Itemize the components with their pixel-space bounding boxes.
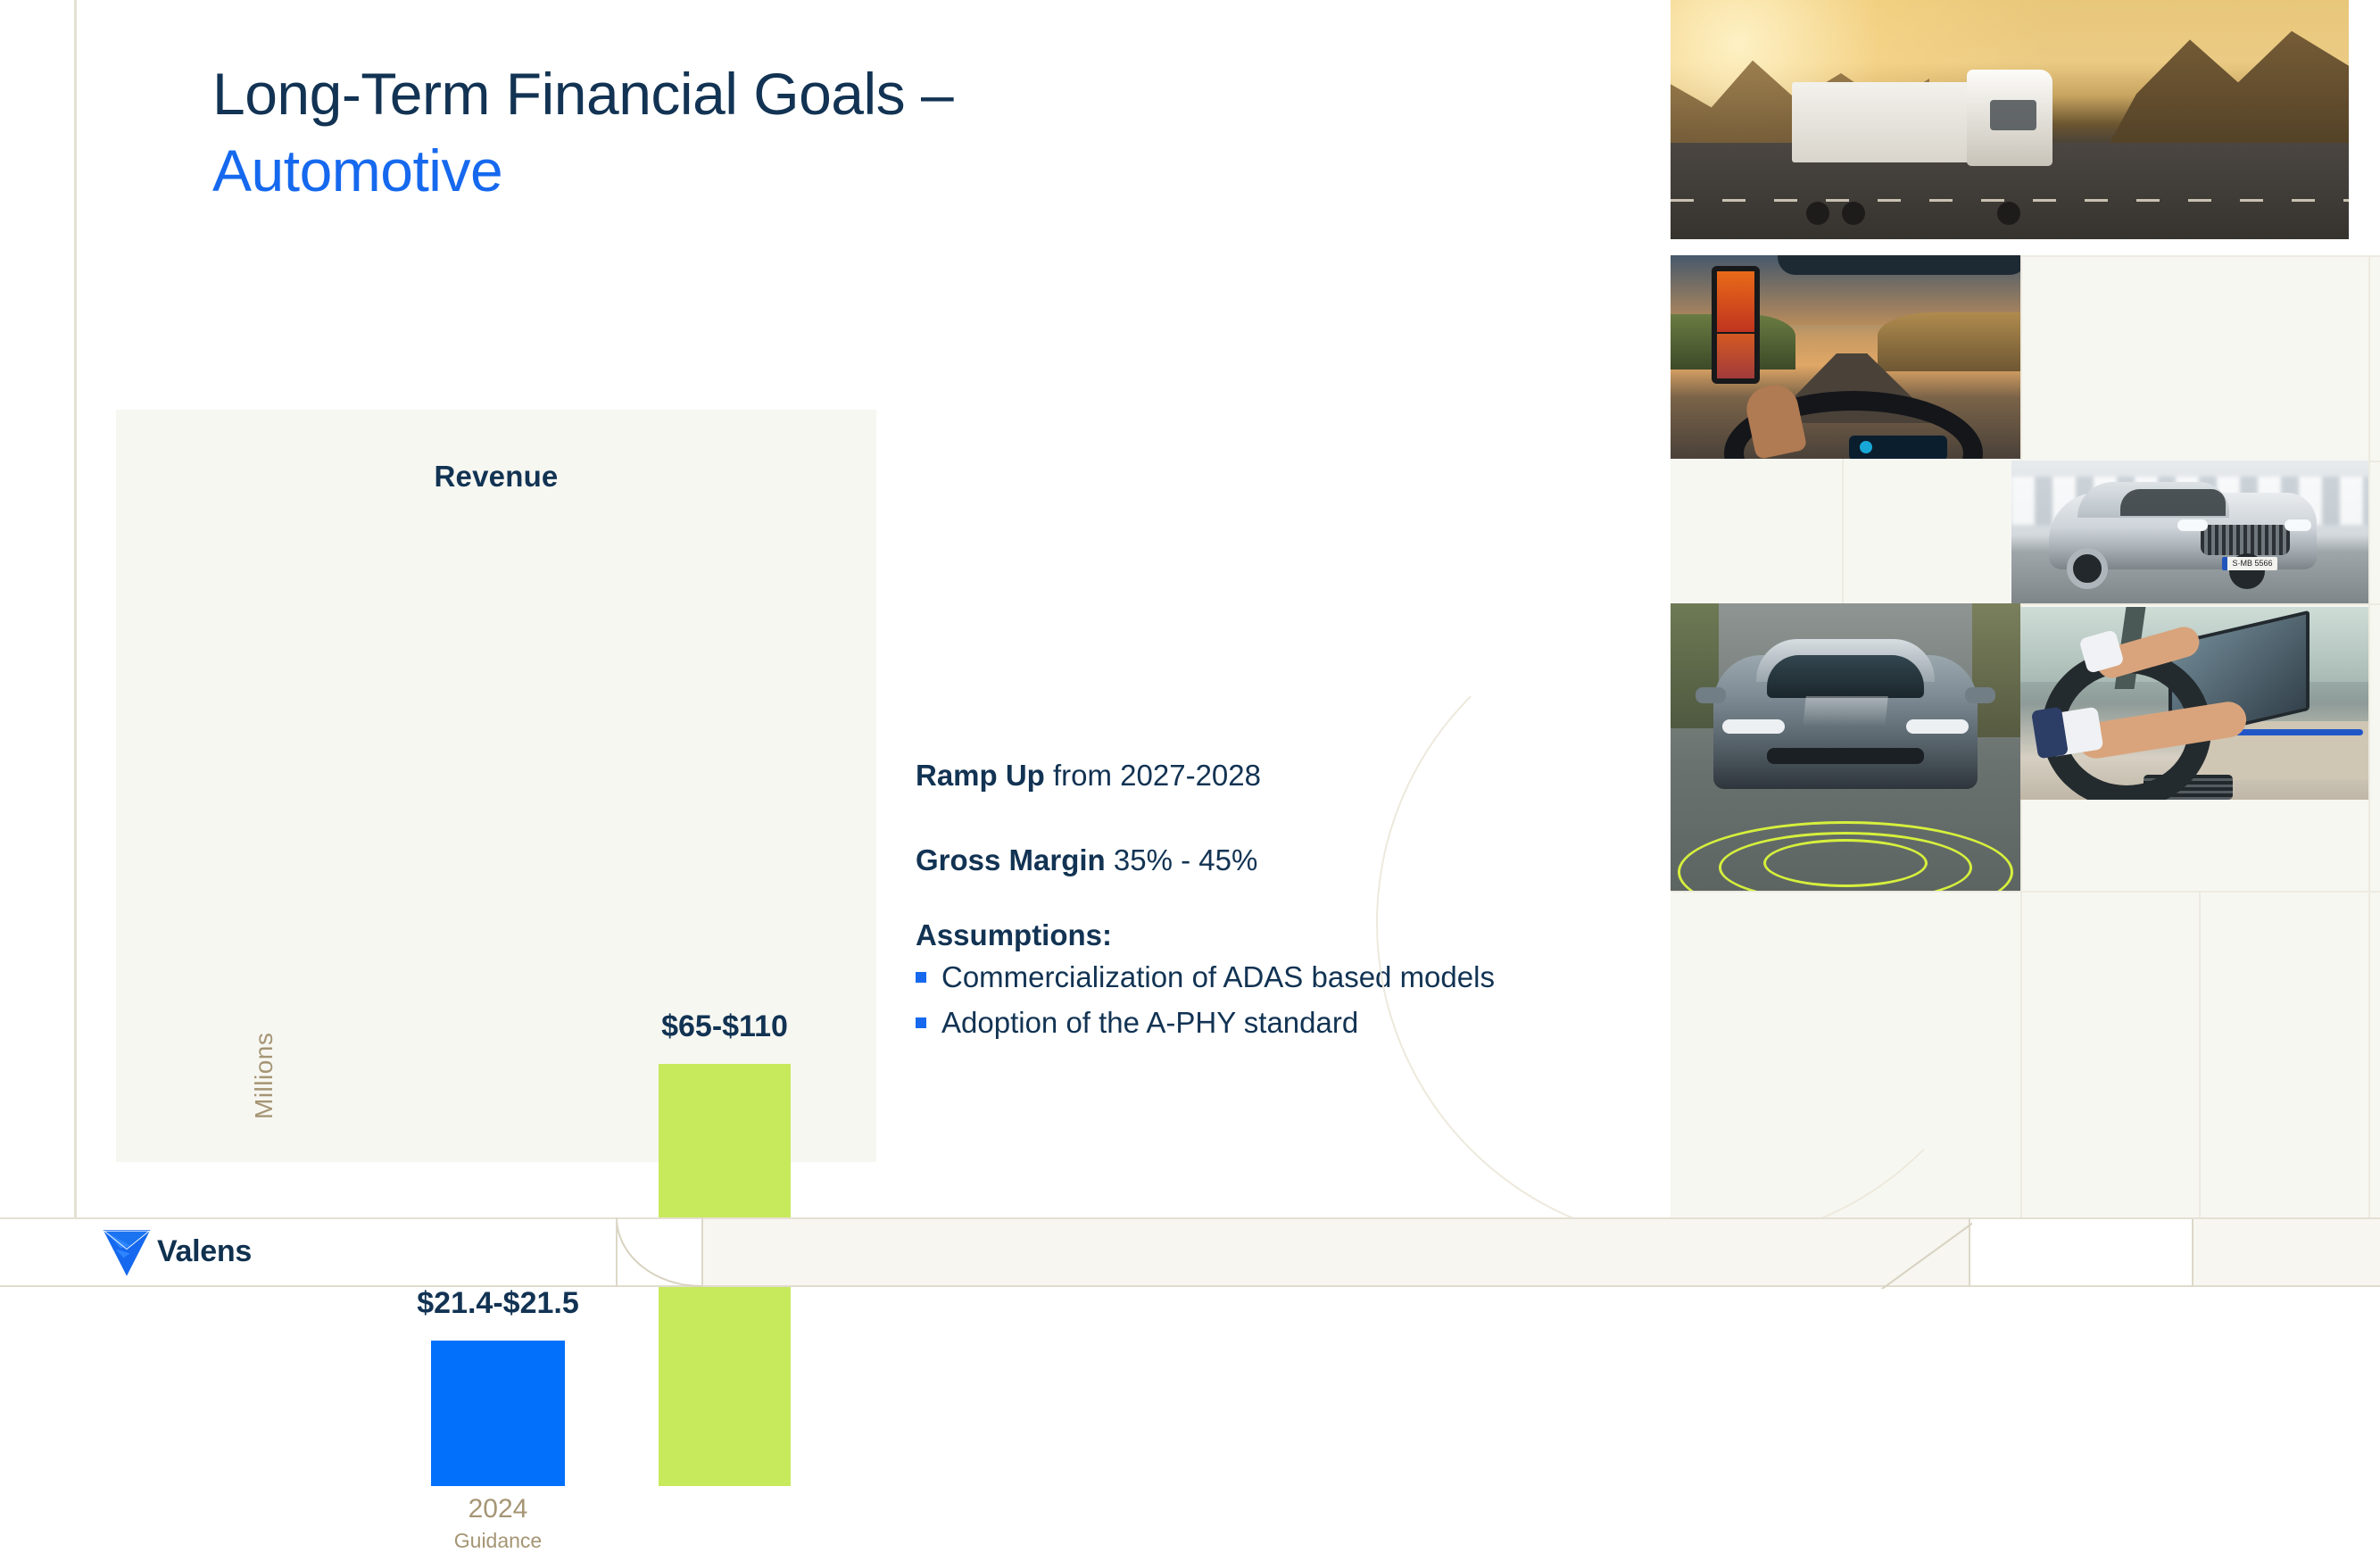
bullet-square-icon xyxy=(916,1017,926,1028)
footer-cell-left xyxy=(0,1219,616,1285)
bar-sublabel-2024: Guidance xyxy=(454,1529,542,1553)
chart-y-axis-label: Millions xyxy=(250,1084,278,1119)
footer-decorative-diagonal xyxy=(1874,1217,1972,1289)
footer-divider xyxy=(701,1217,703,1287)
automotive-image-mosaic: S·MB 5566 xyxy=(1671,0,2380,1219)
footer-cell-right xyxy=(1970,1219,2193,1285)
bar-category-2024: 2024 xyxy=(469,1494,528,1524)
page-title: Long-Term Financial Goals – Automotive xyxy=(212,55,1372,209)
image-mercedes-sedan-motion: S·MB 5566 xyxy=(2011,461,2368,603)
bar-value-label-2029: $65-$110 xyxy=(661,1009,788,1044)
bar-value-label-2024: $21.4-$21.5 xyxy=(417,1286,579,1321)
bar-2024-guidance[interactable]: $21.4-$21.5 2024 Guidance xyxy=(431,1341,565,1486)
bar-shape-2024 xyxy=(431,1341,565,1486)
license-plate-text: S·MB 5566 xyxy=(2222,557,2277,570)
mosaic-grid-line-v xyxy=(1842,459,1844,605)
ramp-up-value: from 2027-2028 xyxy=(1045,759,1261,792)
valens-logo[interactable]: Valens xyxy=(100,1225,252,1278)
brand-name: Valens xyxy=(157,1234,252,1269)
gross-margin-value: 35% - 45% xyxy=(1106,843,1258,876)
image-driver-touchscreen-infotainment xyxy=(2011,607,2368,800)
bullet-square-icon xyxy=(916,972,926,983)
mosaic-grid-line-v xyxy=(2199,891,2201,1219)
gross-margin-label: Gross Margin xyxy=(916,843,1106,876)
revenue-chart-card: Revenue Millions $21.4-$21.5 2024 Guidan… xyxy=(116,410,876,1162)
image-truck-cockpit-mirror-display xyxy=(1671,255,2020,459)
valens-triangle-icon xyxy=(100,1225,153,1278)
mosaic-grid-line-v xyxy=(2368,255,2370,1219)
chart-title: Revenue xyxy=(116,460,876,494)
assumption-text-2: Adoption of the A-PHY standard xyxy=(941,1001,1358,1043)
image-semi-truck-highway-sunset xyxy=(1671,0,2349,239)
footer-divider xyxy=(616,1217,618,1287)
title-line-secondary: Automotive xyxy=(212,132,1372,209)
left-vertical-rule xyxy=(74,0,77,1283)
image-ev-adas-sensing-rings xyxy=(1671,603,2020,891)
title-line-primary: Long-Term Financial Goals – xyxy=(212,55,1372,132)
footer-divider xyxy=(2192,1219,2193,1287)
ramp-up-label: Ramp Up xyxy=(916,759,1045,792)
